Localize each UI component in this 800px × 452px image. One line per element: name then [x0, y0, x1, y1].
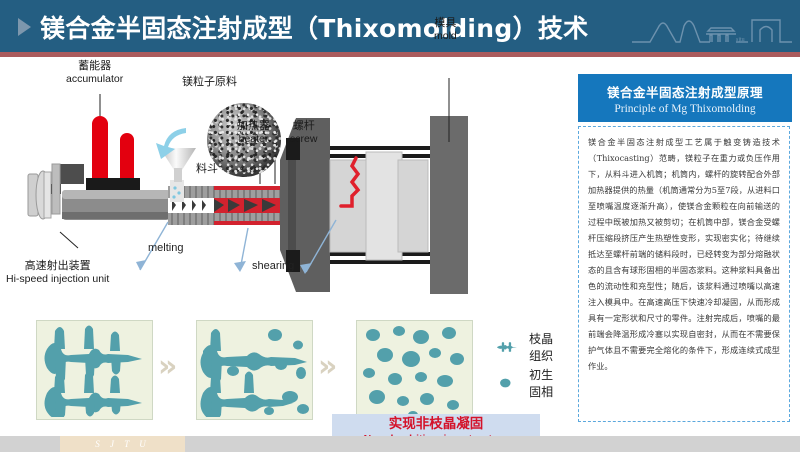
label-heater: 加热器 heater [237, 117, 270, 145]
micro-panel-globular-stage-3 [356, 320, 473, 420]
legend-item-dendrite-structure: 枝晶组织 [496, 330, 557, 364]
triangle-right-icon [18, 18, 31, 36]
label-accumulator: 蓄能器 accumulator [66, 57, 123, 85]
label-heater-en: heater [237, 133, 270, 145]
page-title: 镁合金半固态注射成型（Thixomolding）技术 [40, 9, 588, 45]
principle-panel-body: 镁合金半固态注射成型工艺属于触变铸造技术（Thixocasting）范畴，镁粒子… [578, 126, 790, 422]
micro-panel-dendritic-stage-1 [36, 320, 153, 420]
label-screw-cn: 螺杆 [290, 117, 317, 133]
label-injection-unit: 高速射出装置 Hi-speed injection unit [6, 257, 109, 285]
label-mold-en: mold [434, 30, 457, 42]
label-melting: melting [148, 242, 183, 254]
globular-structure-svg [357, 321, 470, 417]
slide-root: 镁合金半固态注射成型（Thixomolding）技术 sjtu 镁合金半固态注射… [0, 0, 800, 452]
result-banner-cn: 实现非枝晶凝固 [389, 417, 484, 431]
double-chevron-right-icon-2: » [318, 352, 337, 382]
thixomolding-machine-diagram: 蓄能器 accumulator 镁粒子原料 模具 mold 料斗 加热器 hea… [0, 60, 578, 310]
accumulator-graphic [86, 116, 140, 192]
principle-panel-header: 镁合金半固态注射成型原理 Principle of Mg Thixomoldin… [578, 74, 792, 122]
breaking-structure-svg [197, 321, 310, 417]
label-mg-pellets-cn: 镁粒子原料 [182, 73, 237, 89]
legend-item-primary-solid-phase: 初生固相 [496, 366, 557, 400]
principle-panel: 镁合金半固态注射成型原理 Principle of Mg Thixomoldin… [578, 74, 792, 426]
label-heater-cn: 加热器 [237, 117, 270, 133]
label-mg-pellets: 镁粒子原料 [182, 73, 237, 89]
label-injection-unit-en: Hi-speed injection unit [6, 273, 109, 285]
dendrite-icon [496, 338, 518, 356]
label-injection-unit-cn: 高速射出装置 [6, 257, 109, 273]
label-mold-cn: 模具 [434, 14, 457, 30]
label-accumulator-cn: 蓄能器 [66, 57, 123, 73]
label-hopper-cn: 料斗 [196, 160, 218, 176]
label-screw: 螺杆 screw [290, 117, 317, 145]
legend-label-dendrite-structure: 枝晶组织 [529, 330, 557, 364]
micro-panel-dendritic-stage-2 [196, 320, 313, 420]
svg-text:sjtu: sjtu [736, 37, 745, 43]
legend-label-primary-solid-phase: 初生固相 [529, 366, 557, 400]
principle-heading-cn: 镁合金半固态注射成型原理 [607, 82, 763, 101]
label-shearing: shearing [252, 260, 294, 272]
footer-watermark: S J T U [60, 436, 185, 452]
title-bar: 镁合金半固态注射成型（Thixomolding）技术 sjtu [0, 0, 800, 52]
principle-heading-en: Principle of Mg Thixomolding [614, 103, 755, 115]
dendrite-structure-svg [37, 321, 150, 417]
label-screw-en: screw [290, 133, 317, 145]
ellipse-icon [496, 374, 518, 392]
campus-skyline-icon: sjtu [632, 8, 792, 46]
label-hopper: 料斗 [196, 160, 218, 176]
label-mold: 模具 mold [434, 14, 457, 42]
principle-body-text: 镁合金半固态注射成型工艺属于触变铸造技术（Thixocasting）范畴，镁粒子… [579, 127, 789, 381]
label-accumulator-en: accumulator [66, 73, 123, 85]
double-chevron-right-icon-1: » [158, 352, 177, 382]
